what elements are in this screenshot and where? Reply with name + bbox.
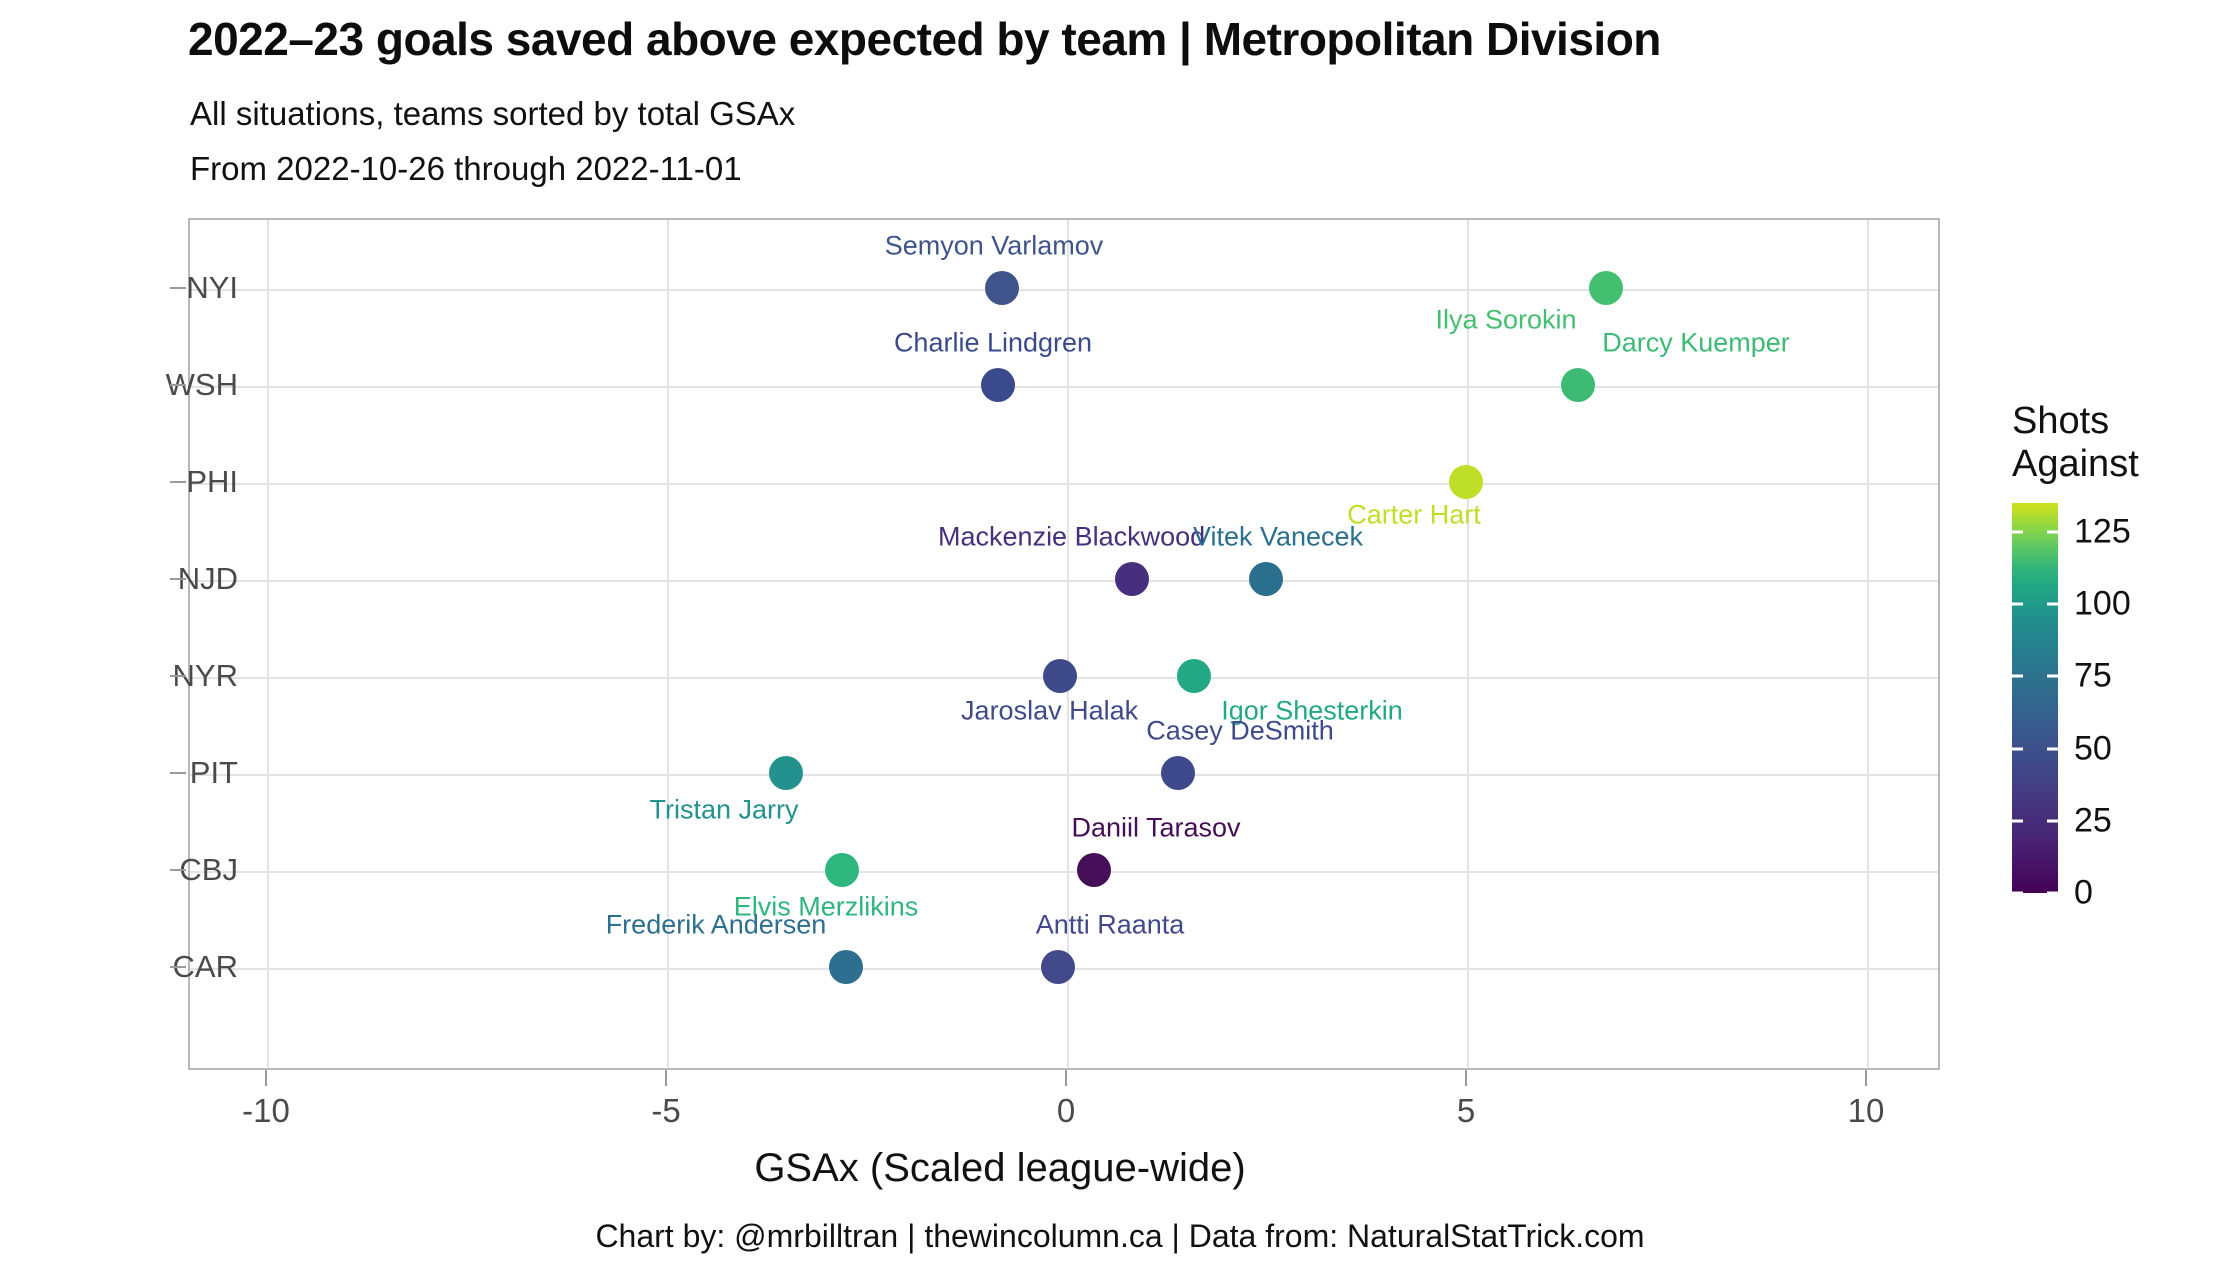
gridline-horizontal (190, 580, 1938, 582)
scatter-point[interactable] (1077, 853, 1111, 887)
x-axis-tick-label-0: 0 (1057, 1092, 1075, 1130)
y-axis-tick-label-phi: PHI (186, 464, 238, 500)
gridline-horizontal (190, 774, 1938, 776)
y-axis-tick-mark (170, 966, 186, 968)
point-label: Vitek Vanecek (1193, 522, 1363, 553)
chart-subtitle-line-1: All situations, teams sorted by total GS… (190, 95, 795, 133)
gridline-horizontal (190, 483, 1938, 485)
point-label: Daniil Tarasov (1071, 813, 1240, 844)
colorbar-wrap: 0255075100125 (2012, 503, 2162, 893)
colorbar-tick-mark (2012, 819, 2058, 822)
colorbar-tick-label-0: 0 (2074, 874, 2093, 913)
scatter-point[interactable] (985, 271, 1019, 305)
colorbar-tick-label-50: 50 (2074, 729, 2112, 768)
colorbar-tick-mark (2012, 747, 2058, 750)
legend-title-line-2: Against (2012, 443, 2240, 486)
point-label: Frederik Andersen (606, 910, 827, 941)
colorbar-tick-mark (2012, 892, 2058, 895)
x-axis-tick-mark (1865, 1070, 1867, 1086)
scatter-point[interactable] (829, 950, 863, 984)
y-axis-tick-label-njd: NJD (178, 561, 238, 597)
y-axis-tick-mark (170, 772, 186, 774)
color-legend: Shots Against 0255075100125 (2012, 400, 2240, 893)
y-axis-tick-label-pit: PIT (190, 755, 238, 791)
colorbar-tick-mark (2012, 603, 2058, 606)
y-axis-tick-mark (170, 869, 186, 871)
colorbar-tick-mark (2012, 530, 2058, 533)
chart-subtitle-line-2: From 2022-10-26 through 2022-11-01 (190, 150, 742, 188)
x-axis-title: GSAx (Scaled league-wide) (0, 1146, 2000, 1191)
point-label: Ilya Sorokin (1435, 305, 1576, 336)
chart-footer-credit: Chart by: @mrbilltran | thewincolumn.ca … (0, 1218, 2240, 1255)
point-label: Mackenzie Blackwood (938, 522, 1205, 553)
colorbar-tick-label-125: 125 (2074, 512, 2131, 551)
legend-title: Shots Against (2012, 400, 2240, 485)
x-axis-tick-label-5: 5 (1457, 1092, 1475, 1130)
gridline-vertical (267, 220, 269, 1068)
x-axis-tick-label-10: 10 (1848, 1092, 1885, 1130)
y-axis-tick-mark (170, 481, 186, 483)
scatter-point[interactable] (1161, 756, 1195, 790)
x-axis-tick-mark (265, 1070, 267, 1086)
scatter-point[interactable] (769, 756, 803, 790)
scatter-point[interactable] (1115, 562, 1149, 596)
colorbar-tick-mark (2012, 675, 2058, 678)
gridline-vertical (1467, 220, 1469, 1068)
point-label: Darcy Kuemper (1602, 328, 1790, 359)
gridline-horizontal (190, 386, 1938, 388)
point-label: Antti Raanta (1036, 910, 1185, 941)
x-axis-tick-mark (1465, 1070, 1467, 1086)
point-label: Charlie Lindgren (894, 328, 1092, 359)
gridline-vertical (1867, 220, 1869, 1068)
y-axis-tick-mark (170, 287, 186, 289)
scatter-point[interactable] (981, 368, 1015, 402)
point-label: Semyon Varlamov (885, 231, 1104, 262)
y-axis-tick-label-cbj: CBJ (179, 852, 238, 888)
scatter-point[interactable] (1449, 465, 1483, 499)
scatter-point[interactable] (1177, 659, 1211, 693)
y-axis-tick-mark (170, 384, 186, 386)
scatter-point[interactable] (1561, 368, 1595, 402)
colorbar-tick-label-25: 25 (2074, 801, 2112, 840)
scatter-point[interactable] (1589, 271, 1623, 305)
x-axis-tick-label-neg10: -10 (242, 1092, 290, 1130)
y-axis-tick-mark (170, 578, 186, 580)
scatter-point[interactable] (825, 853, 859, 887)
gridline-vertical (667, 220, 669, 1068)
point-label: Casey DeSmith (1146, 716, 1334, 747)
x-axis-tick-mark (1065, 1070, 1067, 1086)
scatter-point[interactable] (1249, 562, 1283, 596)
point-label: Jaroslav Halak (961, 696, 1138, 727)
gridline-horizontal (190, 871, 1938, 873)
chart-root: 2022–23 goals saved above expected by te… (0, 0, 2240, 1280)
scatter-point[interactable] (1043, 659, 1077, 693)
gridline-horizontal (190, 289, 1938, 291)
chart-title: 2022–23 goals saved above expected by te… (188, 12, 1661, 66)
colorbar-tick-label-75: 75 (2074, 657, 2112, 696)
point-label: Carter Hart (1347, 500, 1481, 531)
scatter-point[interactable] (1041, 950, 1075, 984)
y-axis-tick-mark (170, 675, 186, 677)
colorbar-gradient (2012, 503, 2058, 893)
y-axis-tick-label-nyi: NYI (186, 270, 238, 306)
point-label: Tristan Jarry (649, 795, 798, 826)
legend-title-line-1: Shots (2012, 400, 2240, 443)
x-axis-tick-mark (665, 1070, 667, 1086)
x-axis-tick-label-neg5: -5 (651, 1092, 680, 1130)
colorbar-tick-label-100: 100 (2074, 585, 2131, 624)
